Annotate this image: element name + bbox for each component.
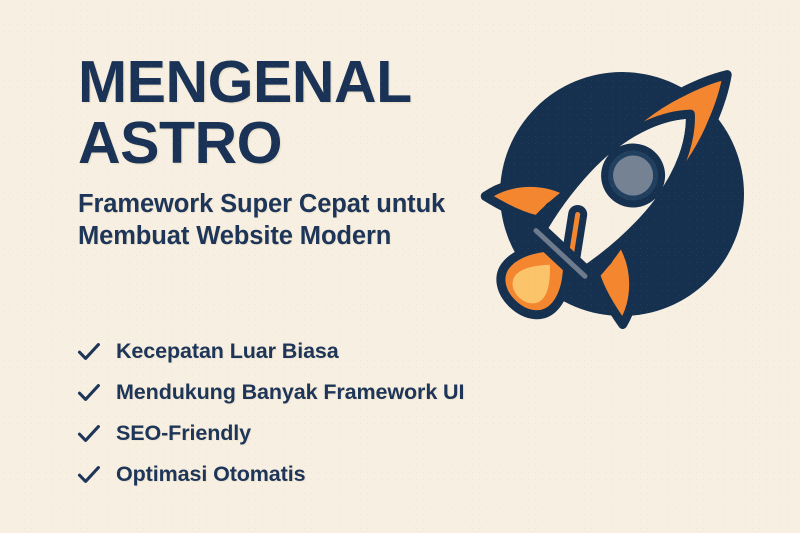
check-icon	[72, 462, 116, 488]
list-item: Kecepatan Luar Biasa	[72, 331, 572, 372]
list-item: SEO-Friendly	[72, 413, 572, 454]
check-icon	[72, 339, 116, 365]
page-subtitle: Framework Super Cepat untuk Membuat Webs…	[78, 188, 518, 253]
page-title: MENGENAL ASTRO	[78, 52, 518, 174]
feature-label: SEO-Friendly	[116, 421, 251, 446]
poster-canvas: MENGENAL ASTRO Framework Super Cepat unt…	[0, 0, 800, 533]
text-column: MENGENAL ASTRO Framework Super Cepat unt…	[78, 52, 518, 253]
feature-list: Kecepatan Luar Biasa Mendukung Banyak Fr…	[72, 331, 572, 495]
feature-label: Kecepatan Luar Biasa	[116, 339, 339, 364]
rocket-illustration	[474, 28, 774, 334]
feature-label: Mendukung Banyak Framework UI	[116, 380, 464, 405]
feature-label: Optimasi Otomatis	[116, 462, 305, 487]
check-icon	[72, 421, 116, 447]
check-icon	[72, 380, 116, 406]
list-item: Mendukung Banyak Framework UI	[72, 372, 572, 413]
list-item: Optimasi Otomatis	[72, 454, 572, 495]
